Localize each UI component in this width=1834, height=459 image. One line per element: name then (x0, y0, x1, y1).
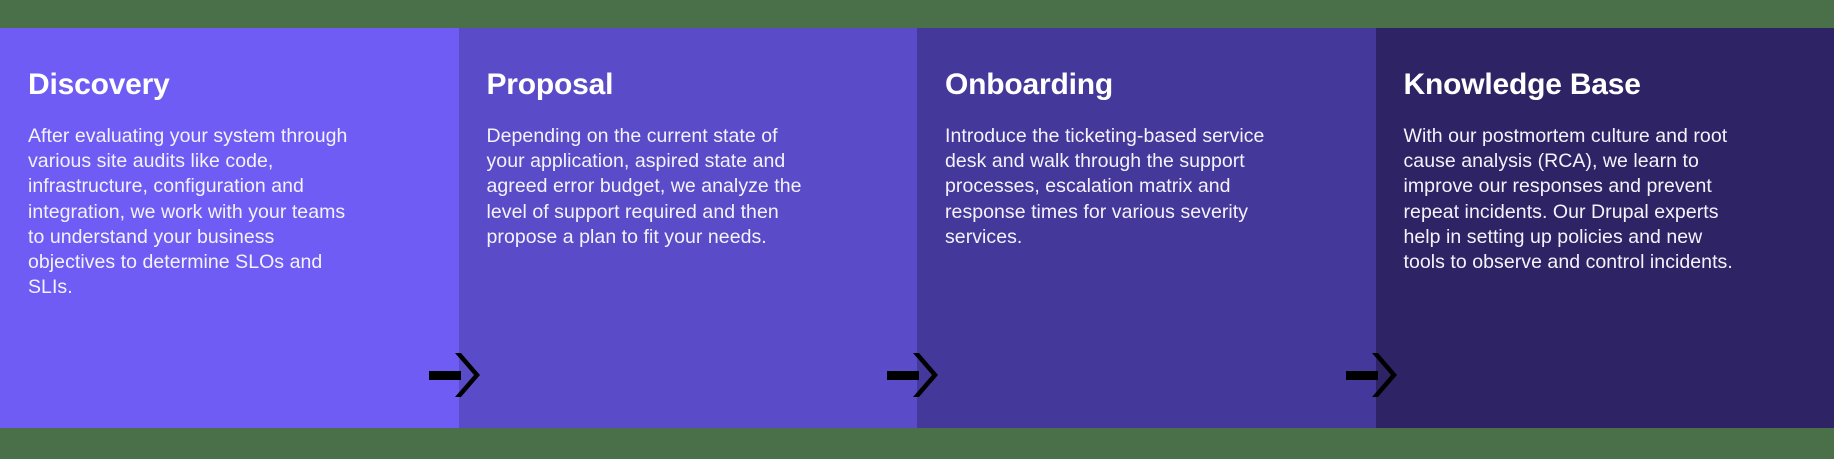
top-background-band (0, 0, 1834, 28)
process-step-onboarding[interactable]: Onboarding Introduce the ticketing-based… (917, 28, 1376, 428)
process-step-discovery[interactable]: Discovery After evaluating your system t… (0, 28, 459, 428)
arrow-right-icon (1344, 350, 1400, 400)
bottom-background-band (0, 428, 1834, 459)
process-step-knowledge-base[interactable]: Knowledge Base With our postmortem cultu… (1376, 28, 1834, 428)
step-title: Knowledge Base (1404, 68, 1809, 102)
step-title: Proposal (487, 68, 892, 102)
step-description: Depending on the current state of your a… (487, 124, 807, 250)
step-description: With our postmortem culture and root cau… (1404, 124, 1734, 275)
step-title: Onboarding (945, 68, 1350, 102)
process-step-proposal[interactable]: Proposal Depending on the current state … (459, 28, 918, 428)
arrow-right-icon (427, 350, 483, 400)
process-step-list: Discovery After evaluating your system t… (0, 28, 1834, 428)
step-description: After evaluating your system through var… (28, 124, 360, 300)
arrow-right-icon (885, 350, 941, 400)
step-description: Introduce the ticketing-based service de… (945, 124, 1285, 250)
process-steps-graphic: Discovery After evaluating your system t… (0, 0, 1834, 459)
step-title: Discovery (28, 68, 433, 102)
